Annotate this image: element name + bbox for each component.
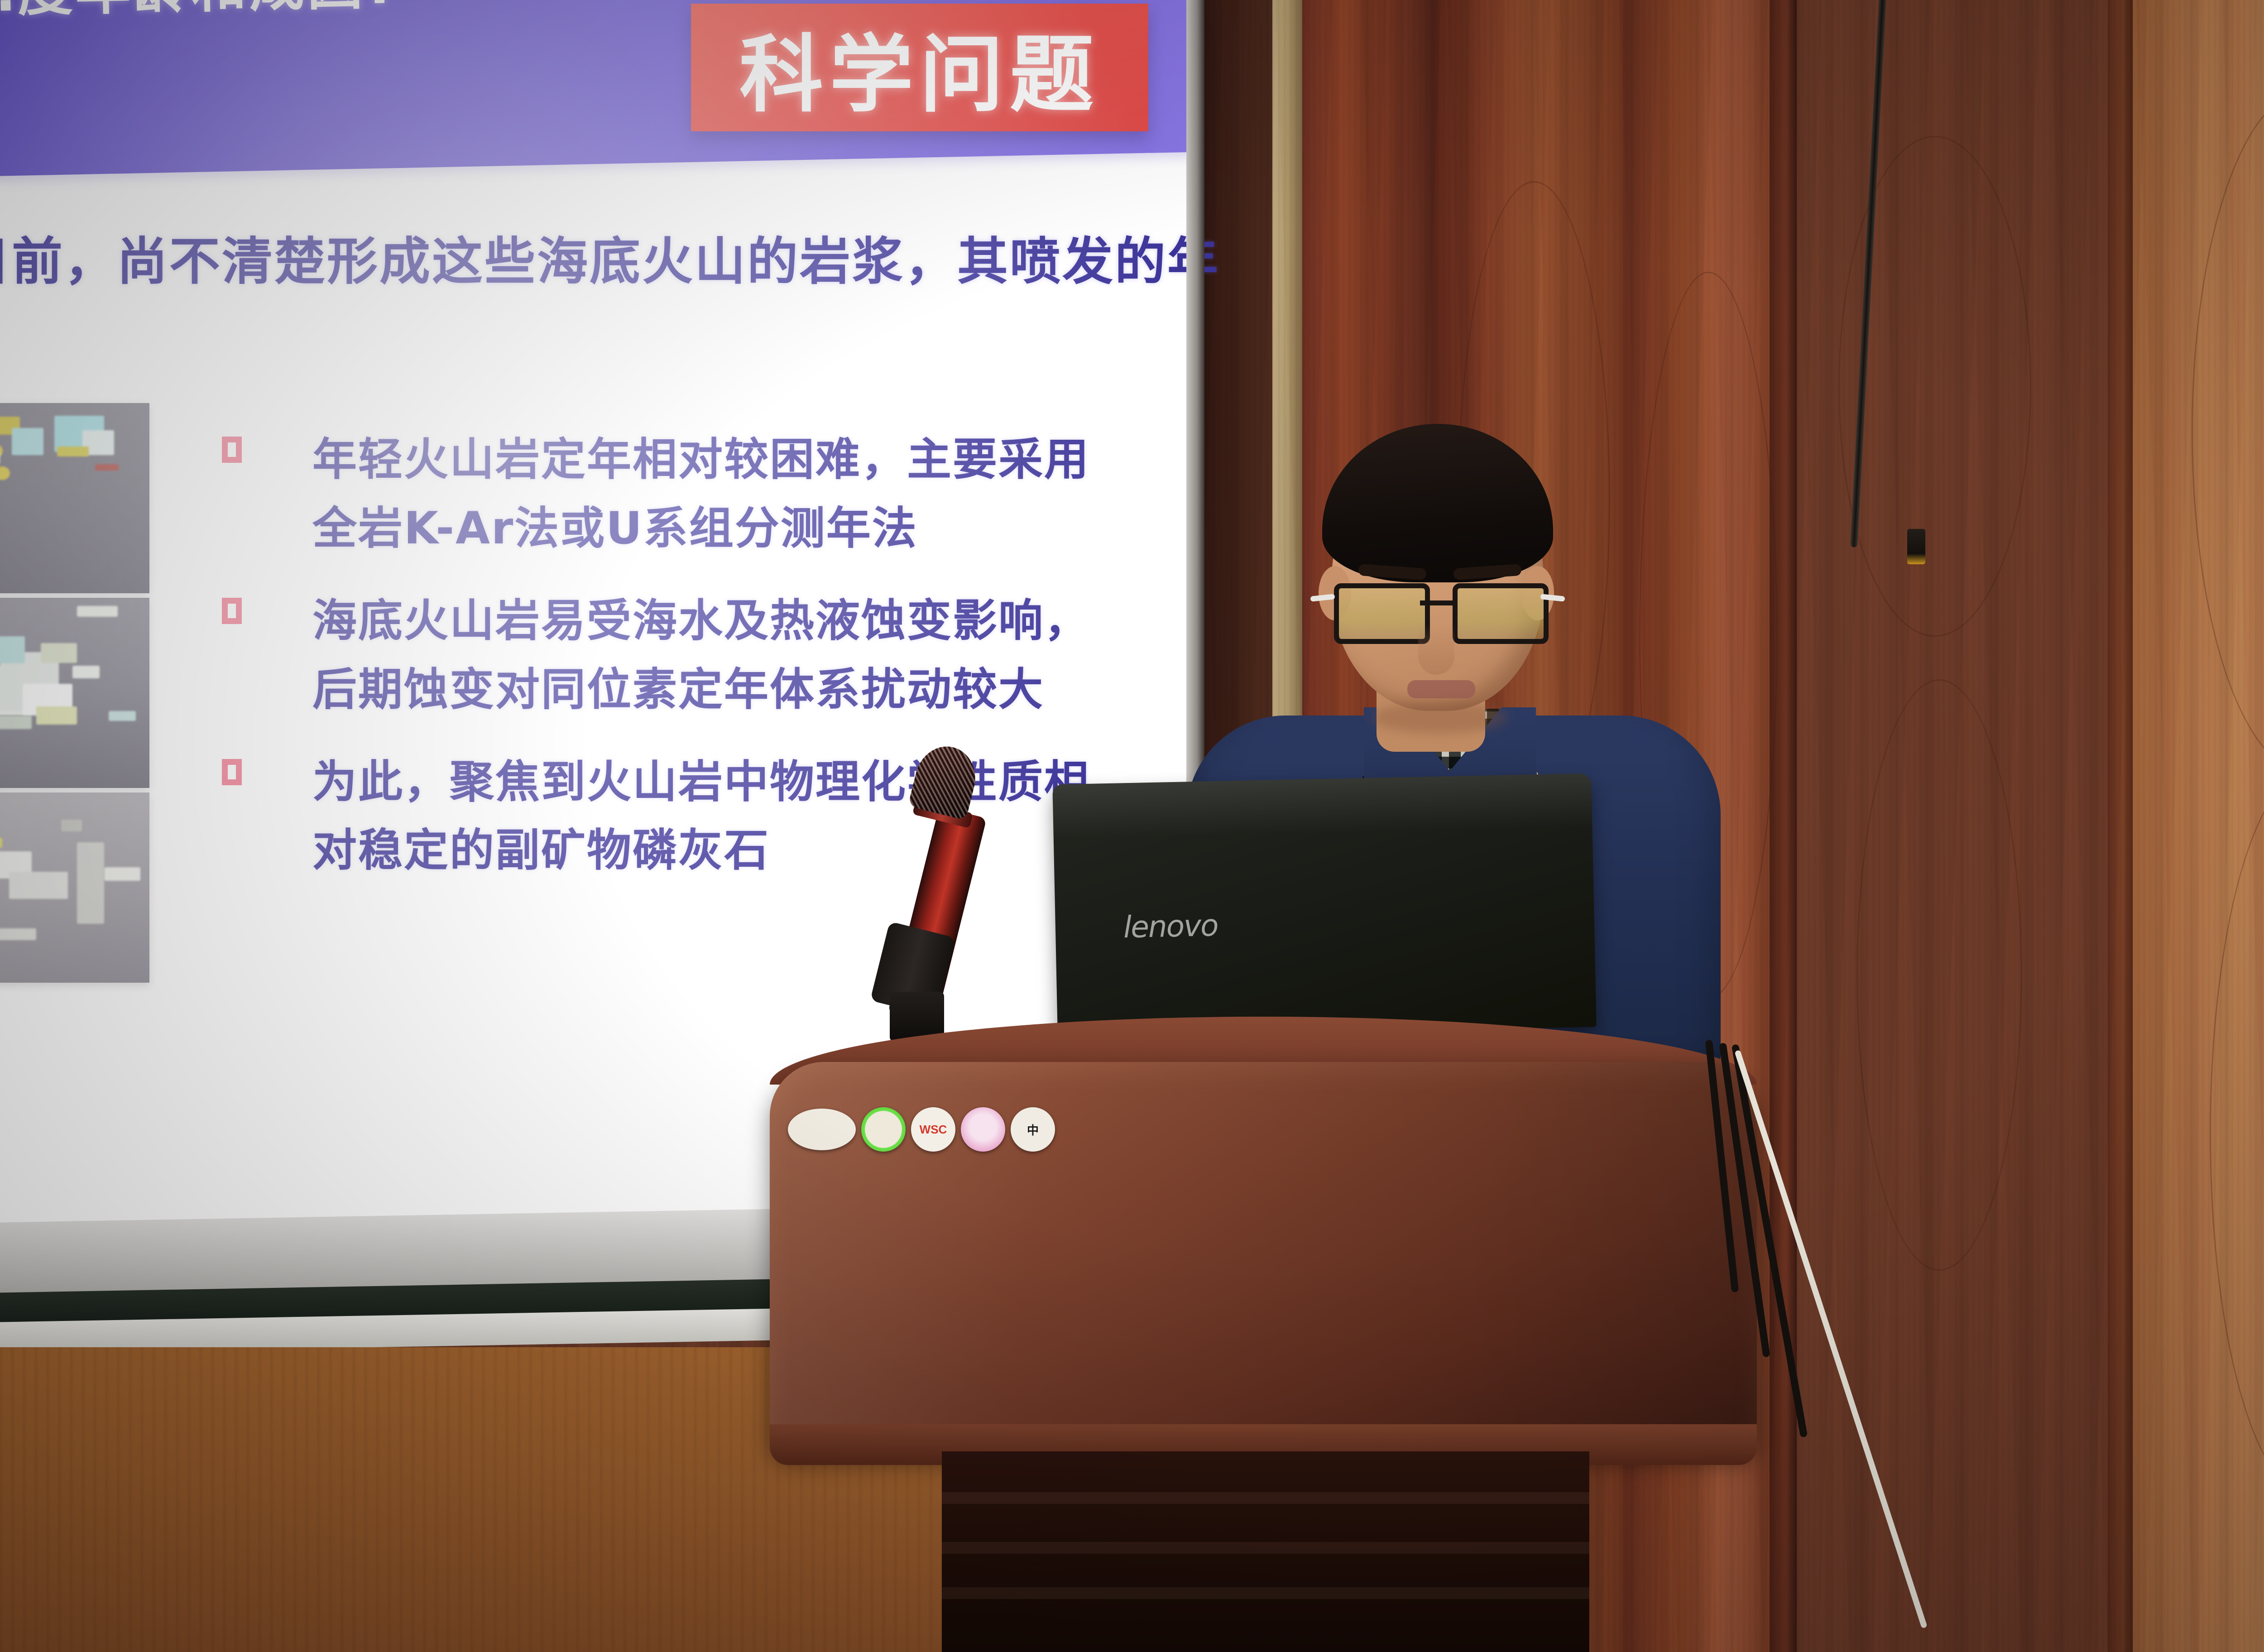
slide-section-badge-label: 科学问题 xyxy=(691,4,1148,131)
slide-lead-paragraph: 目前，尚不清楚形成这些海底火山的岩浆，其喷发的年 xyxy=(0,221,1220,294)
eyeglass-bridge xyxy=(1420,600,1453,605)
cable-connector-tip xyxy=(1907,529,1925,564)
presentation-room-photo: …度年龄和成因? 科学问题 目前，尚不清楚形成这些海底火山的岩浆，其喷发的年 xyxy=(0,0,2264,1652)
speaker-hair xyxy=(1322,424,1553,582)
slide-section-badge: 科学问题 xyxy=(691,4,1148,131)
bullet-1-line-1: 年轻火山岩定年相对较困难，主要采用 xyxy=(312,426,1082,495)
speaker-mouth xyxy=(1407,680,1475,698)
laptop[interactable]: lenovo xyxy=(1052,773,1596,1038)
speaker-nose xyxy=(1418,625,1454,675)
bullet-1-line-2: 全岩K-Ar法或U系组分测年法 xyxy=(312,495,1082,563)
eyeglass-lens-right xyxy=(1453,583,1549,644)
bullet-square-icon xyxy=(222,437,242,463)
thin-section-photo-1 xyxy=(0,403,149,593)
slide-header-title: …度年龄和成因? xyxy=(0,0,400,28)
emblem-wsc: WSC xyxy=(911,1107,955,1152)
podium: WSC 中 xyxy=(770,1017,1757,1652)
emblem-black-logo: 中 xyxy=(1011,1107,1055,1152)
emblem-pink-crest xyxy=(961,1107,1005,1152)
emblem-green-ring xyxy=(861,1107,906,1152)
podium-base-slat xyxy=(942,1542,1589,1554)
podium-base-slat xyxy=(942,1587,1589,1599)
bullet-item-2: 海底火山岩易受海水及热液蚀变影响， 后期蚀变对同位素定年体系扰动较大 xyxy=(222,587,1082,725)
laptop-brand-logo: lenovo xyxy=(1123,908,1218,945)
thin-section-photo-2 xyxy=(0,598,149,788)
thin-section-photo-3 xyxy=(0,792,149,983)
bullet-2-line-1: 海底火山岩易受海水及热液蚀变影响， xyxy=(312,587,1082,656)
podium-base xyxy=(942,1451,1589,1652)
microphone-grille xyxy=(908,740,982,820)
bullet-2-line-2: 后期蚀变对同位素定年体系扰动较大 xyxy=(312,656,1082,725)
bullet-square-icon xyxy=(222,598,242,624)
podium-emblem-row: WSC 中 xyxy=(788,1107,1055,1152)
podium-base-slat xyxy=(942,1492,1589,1504)
laptop-lid-highlight xyxy=(1052,773,1592,839)
microphone[interactable] xyxy=(872,738,980,1037)
bullet-square-icon xyxy=(222,759,242,785)
eyeglass-lens-left xyxy=(1334,583,1430,644)
speaker-chin-shadow xyxy=(1372,702,1508,734)
bullet-item-1: 年轻火山岩定年相对较困难，主要采用 全岩K-Ar法或U系组分测年法 xyxy=(222,426,1082,563)
emblem-oval-crest xyxy=(788,1109,856,1150)
